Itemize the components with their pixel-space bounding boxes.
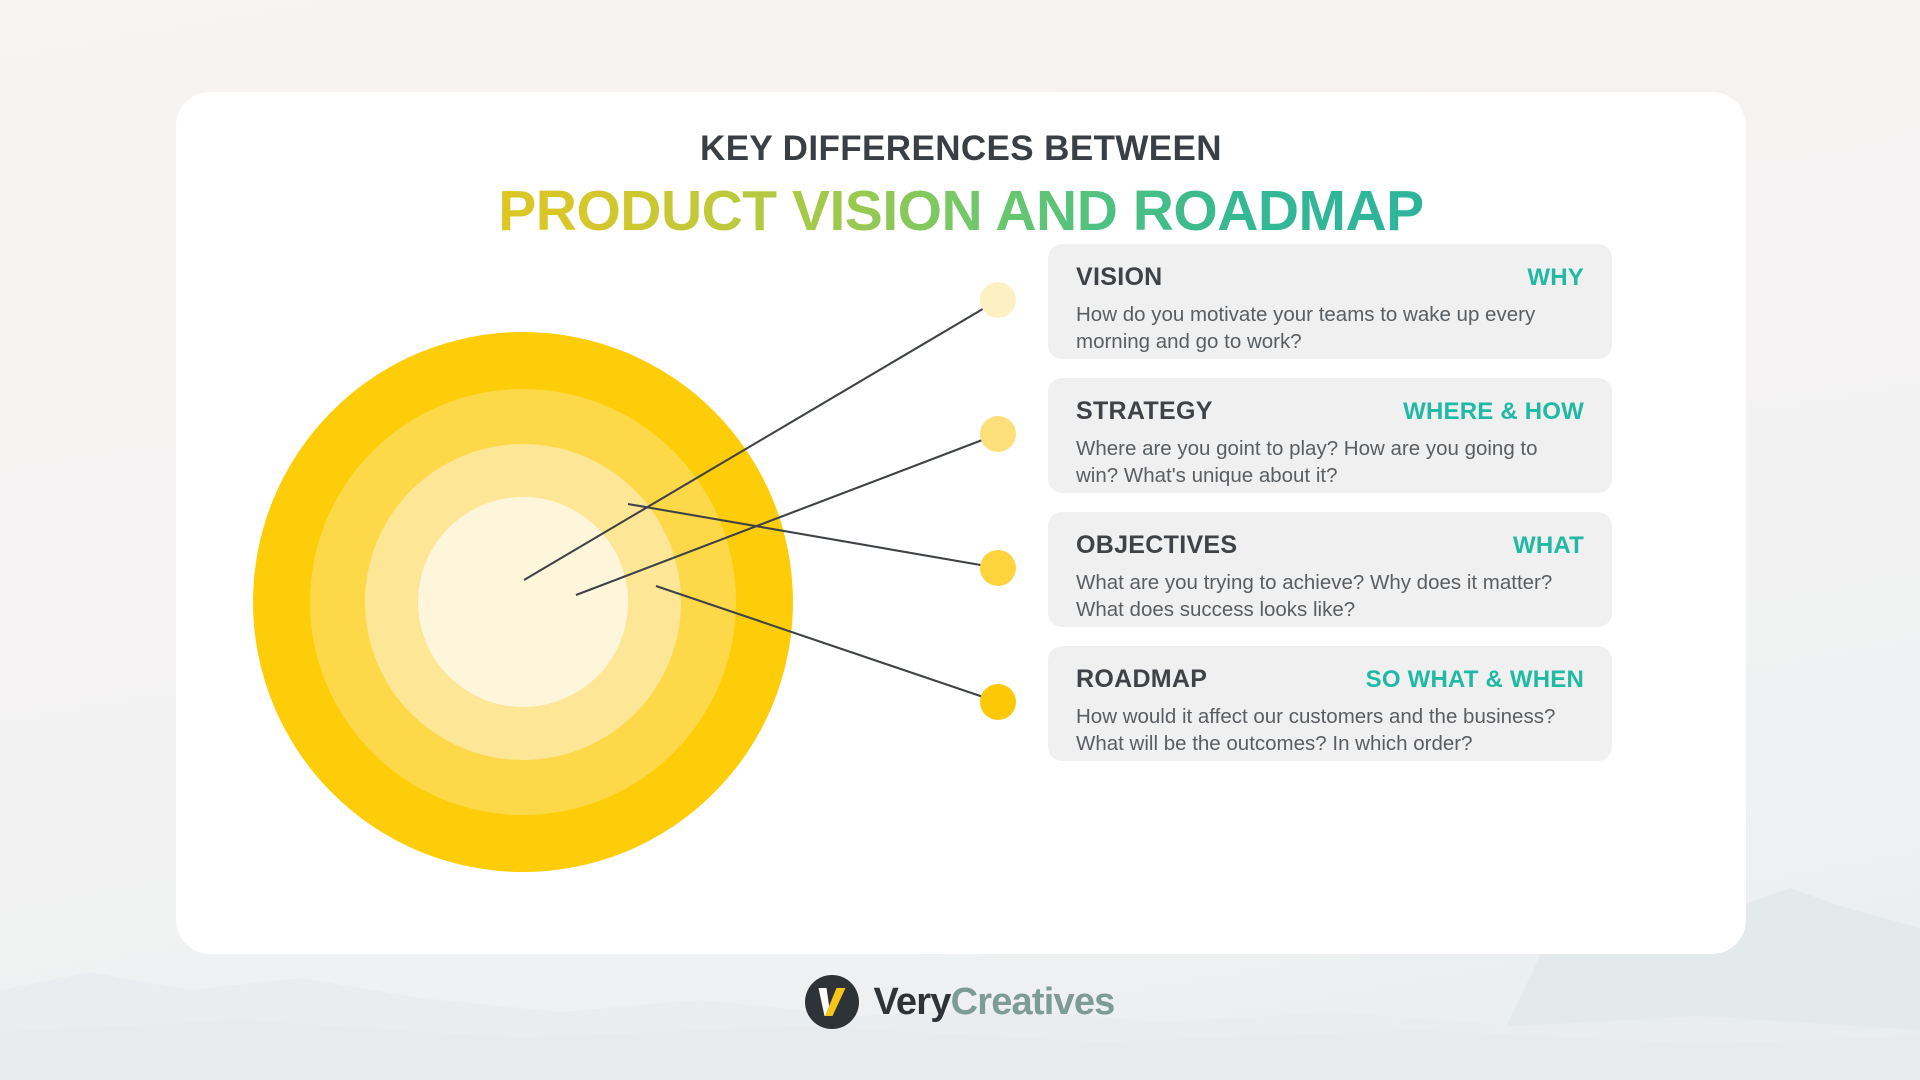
verycreatives-logo-icon [805, 975, 859, 1029]
card-header: ROADMAP SO WHAT & WHEN [1076, 665, 1584, 694]
strategy-dot [980, 416, 1016, 452]
vision-dot [980, 282, 1016, 318]
card-tag: WHY [1527, 264, 1584, 292]
logo-wordmark: VeryCreatives [873, 981, 1114, 1024]
objectives-dot [980, 550, 1016, 586]
card-body: Where are you goint to play? How are you… [1076, 435, 1584, 489]
card-objectives[interactable]: OBJECTIVES WHAT What are you trying to a… [1048, 512, 1612, 627]
card-header: VISION WHY [1076, 263, 1584, 292]
card-title: VISION [1076, 263, 1163, 292]
ring-vision [418, 497, 628, 707]
concentric-rings-diagram [253, 332, 793, 872]
card-title: OBJECTIVES [1076, 531, 1237, 560]
page-eyebrow: KEY DIFFERENCES BETWEEN [176, 129, 1746, 169]
card-tag: SO WHAT & WHEN [1366, 666, 1584, 694]
card-title: STRATEGY [1076, 397, 1213, 426]
card-body: How do you motivate your teams to wake u… [1076, 301, 1584, 355]
card-tag: WHAT [1513, 532, 1584, 560]
header-block: KEY DIFFERENCES BETWEEN PRODUCT VISION A… [176, 92, 1746, 244]
card-vision[interactable]: VISION WHY How do you motivate your team… [1048, 244, 1612, 359]
logo-text-very: Very [873, 981, 950, 1023]
card-body: What are you trying to achieve? Why does… [1076, 569, 1584, 623]
card-title: ROADMAP [1076, 665, 1207, 694]
main-panel: KEY DIFFERENCES BETWEEN PRODUCT VISION A… [176, 92, 1746, 954]
card-strategy[interactable]: STRATEGY WHERE & HOW Where are you goint… [1048, 378, 1612, 493]
card-header: OBJECTIVES WHAT [1076, 531, 1584, 560]
card-header: STRATEGY WHERE & HOW [1076, 397, 1584, 426]
roadmap-dot [980, 684, 1016, 720]
card-body: How would it affect our customers and th… [1076, 703, 1584, 757]
page-title: PRODUCT VISION AND ROADMAP [498, 178, 1423, 244]
card-tag: WHERE & HOW [1403, 398, 1584, 426]
card-roadmap[interactable]: ROADMAP SO WHAT & WHEN How would it affe… [1048, 646, 1612, 761]
footer-logo: VeryCreatives [0, 975, 1920, 1029]
logo-text-creatives: Creatives [951, 981, 1115, 1023]
